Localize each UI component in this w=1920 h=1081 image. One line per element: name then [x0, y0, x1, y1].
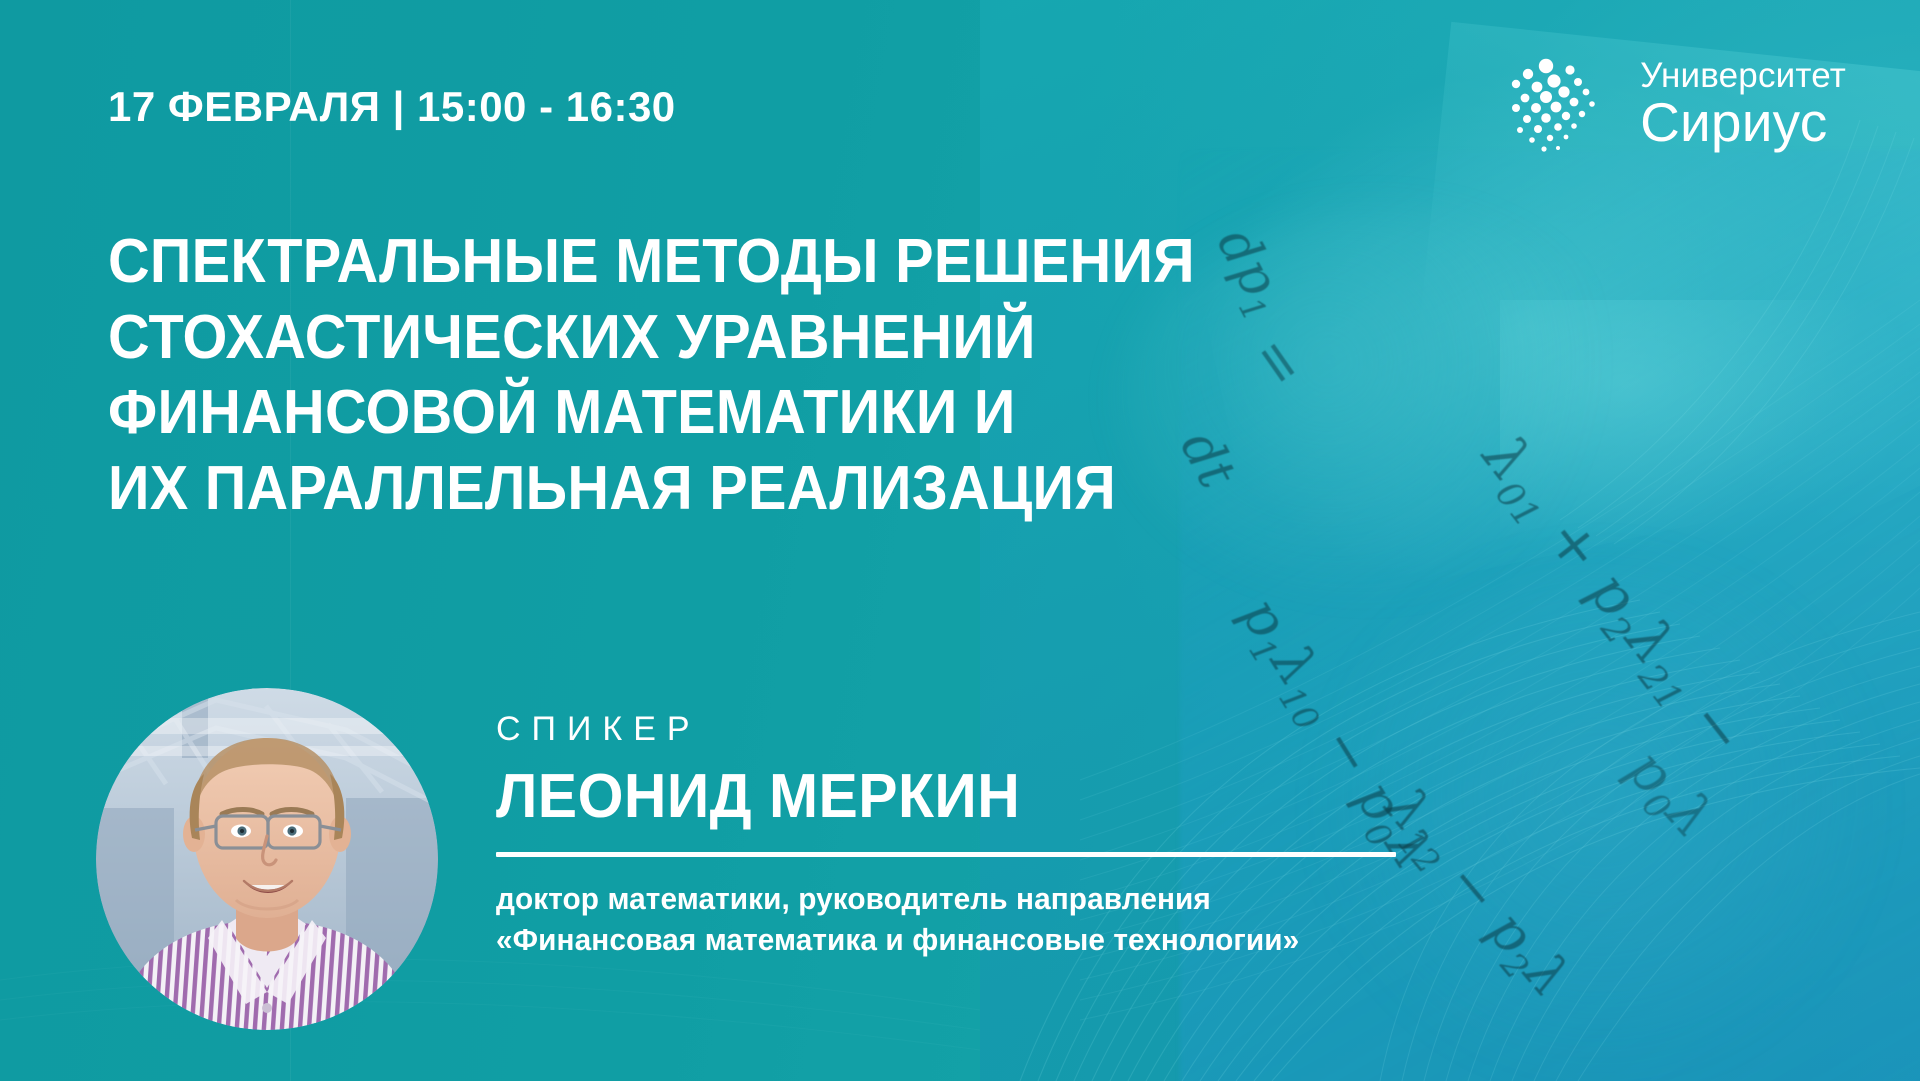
- logo-line-universitet: Университет: [1640, 58, 1846, 93]
- sirius-logo-text: Университет Сириус: [1640, 58, 1846, 150]
- event-banner: dp1 dt = p1λ10 − p0λ λ01 + p2λ21 − λ12 −…: [0, 0, 1920, 1081]
- speaker-description-line-2: «Финансовая математика и финансовые техн…: [496, 919, 1379, 960]
- speaker-divider: [496, 852, 1396, 857]
- speaker-description: доктор математики, руководитель направле…: [496, 878, 1379, 960]
- speaker-description-line-1: доктор математики, руководитель направле…: [496, 878, 1379, 919]
- speaker-name: ЛЕОНИД МЕРКИН: [496, 766, 1370, 828]
- event-date-time: 17 ФЕВРАЛЯ | 15:00 - 16:30: [108, 86, 676, 128]
- avatar-photo-illustration: [96, 688, 438, 1030]
- headline-line-1: СПЕКТРАЛЬНЫЕ МЕТОДЫ РЕШЕНИЯ: [108, 224, 1317, 300]
- sirius-dots-icon: [1508, 48, 1620, 160]
- headline-line-4: ИХ ПАРАЛЛЕЛЬНАЯ РЕАЛИЗАЦИЯ: [108, 451, 1317, 527]
- headline-line-2: СТОХАСТИЧЕСКИХ УРАВНЕНИЙ: [108, 300, 1317, 376]
- headline-line-3: ФИНАНСОВОЙ МАТЕМАТИКИ И: [108, 375, 1317, 451]
- logo-line-sirius: Сириус: [1640, 95, 1846, 150]
- speaker-avatar: [96, 688, 438, 1030]
- sirius-logo: Университет Сириус: [1508, 48, 1846, 160]
- speaker-label: СПИКЕР: [496, 712, 1416, 746]
- banner-content: 17 ФЕВРАЛЯ | 15:00 - 16:30: [0, 0, 1920, 1081]
- page-title: СПЕКТРАЛЬНЫЕ МЕТОДЫ РЕШЕНИЯ СТОХАСТИЧЕСК…: [108, 224, 1317, 527]
- speaker-block: СПИКЕР ЛЕОНИД МЕРКИН доктор математики, …: [496, 712, 1416, 960]
